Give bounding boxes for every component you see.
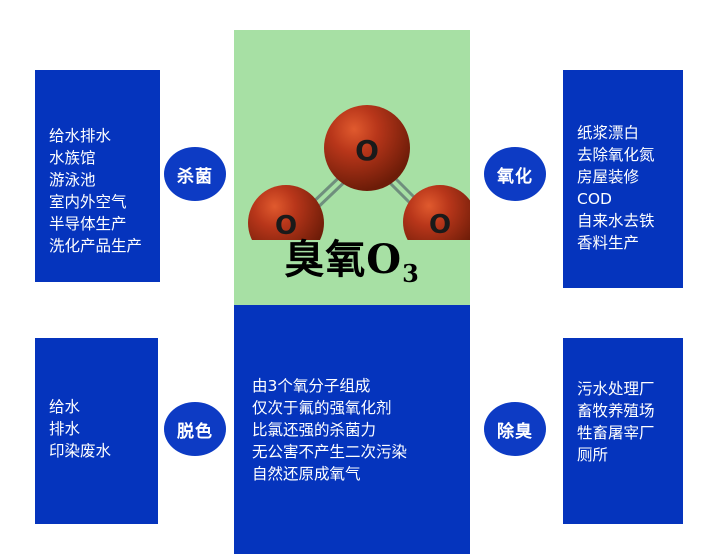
list-item: 给水 <box>49 396 111 418</box>
badge-deodorization-label: 除臭 <box>497 417 533 442</box>
list-item: 印染废水 <box>49 440 111 462</box>
ozone-infographic: O O O 臭氧O3 由3个氧分子组成 仅次于氟的强氧化剂 比氯还强的杀菌力 无… <box>0 0 709 554</box>
list-item: 水族馆 <box>49 147 142 169</box>
center-description: 由3个氧分子组成 仅次于氟的强氧化剂 比氯还强的杀菌力 无公害不产生二次污染 自… <box>252 375 464 485</box>
panel-sterilization-list: 给水排水 水族馆 游泳池 室内外空气 半导体生产 洗化产品生产 <box>49 125 142 257</box>
panel-oxidation-list: 纸浆漂白 去除氧化氮 房屋装修 COD 自来水去铁 香料生产 <box>577 122 655 254</box>
badge-decolorization: 脱色 <box>164 402 226 456</box>
badge-decolorization-label: 脱色 <box>177 417 213 442</box>
badge-sterilization: 杀菌 <box>164 147 226 201</box>
list-item: 给水排水 <box>49 125 142 147</box>
list-item: 自来水去铁 <box>577 210 655 232</box>
oxygen-atom-right-label: O <box>429 210 451 240</box>
badge-oxidation-label: 氧化 <box>497 162 533 187</box>
panel-decolorization-list: 给水 排水 印染废水 <box>49 396 111 462</box>
list-item: 畜牧养殖场 <box>577 400 655 422</box>
badge-deodorization: 除臭 <box>484 402 546 456</box>
center-description-line: 无公害不产生二次污染 <box>252 441 464 463</box>
center-description-line: 自然还原成氧气 <box>252 463 464 485</box>
list-item: 排水 <box>49 418 111 440</box>
list-item: 厕所 <box>577 444 655 466</box>
panel-sterilization-applications: 给水排水 水族馆 游泳池 室内外空气 半导体生产 洗化产品生产 <box>35 70 160 282</box>
list-item: 污水处理厂 <box>577 378 655 400</box>
list-item: 房屋装修 <box>577 166 655 188</box>
panel-oxidation-applications: 纸浆漂白 去除氧化氮 房屋装修 COD 自来水去铁 香料生产 <box>563 70 683 288</box>
list-item: 游泳池 <box>49 169 142 191</box>
center-description-line: 由3个氧分子组成 <box>252 375 464 397</box>
oxygen-atom-top-label: O <box>355 134 379 167</box>
list-item: 香料生产 <box>577 232 655 254</box>
list-item: 去除氧化氮 <box>577 144 655 166</box>
badge-oxidation: 氧化 <box>484 147 546 201</box>
ozone-molecule-illustration: O O O <box>234 95 470 240</box>
page-title-subscript: 3 <box>402 259 420 288</box>
page-title-main: 臭氧O <box>284 236 402 283</box>
list-item: 牲畜屠宰厂 <box>577 422 655 444</box>
center-description-line: 比氯还强的杀菌力 <box>252 419 464 441</box>
list-item: 半导体生产 <box>49 213 142 235</box>
badge-sterilization-label: 杀菌 <box>177 162 213 187</box>
page-title: 臭氧O3 <box>234 238 470 287</box>
panel-decolorization-applications: 给水 排水 印染废水 <box>35 338 158 524</box>
list-item: COD <box>577 188 655 210</box>
center-description-line: 仅次于氟的强氧化剂 <box>252 397 464 419</box>
panel-deodorization-applications: 污水处理厂 畜牧养殖场 牲畜屠宰厂 厕所 <box>563 338 683 524</box>
list-item: 纸浆漂白 <box>577 122 655 144</box>
list-item: 室内外空气 <box>49 191 142 213</box>
panel-deodorization-list: 污水处理厂 畜牧养殖场 牲畜屠宰厂 厕所 <box>577 378 655 466</box>
list-item: 洗化产品生产 <box>49 235 142 257</box>
